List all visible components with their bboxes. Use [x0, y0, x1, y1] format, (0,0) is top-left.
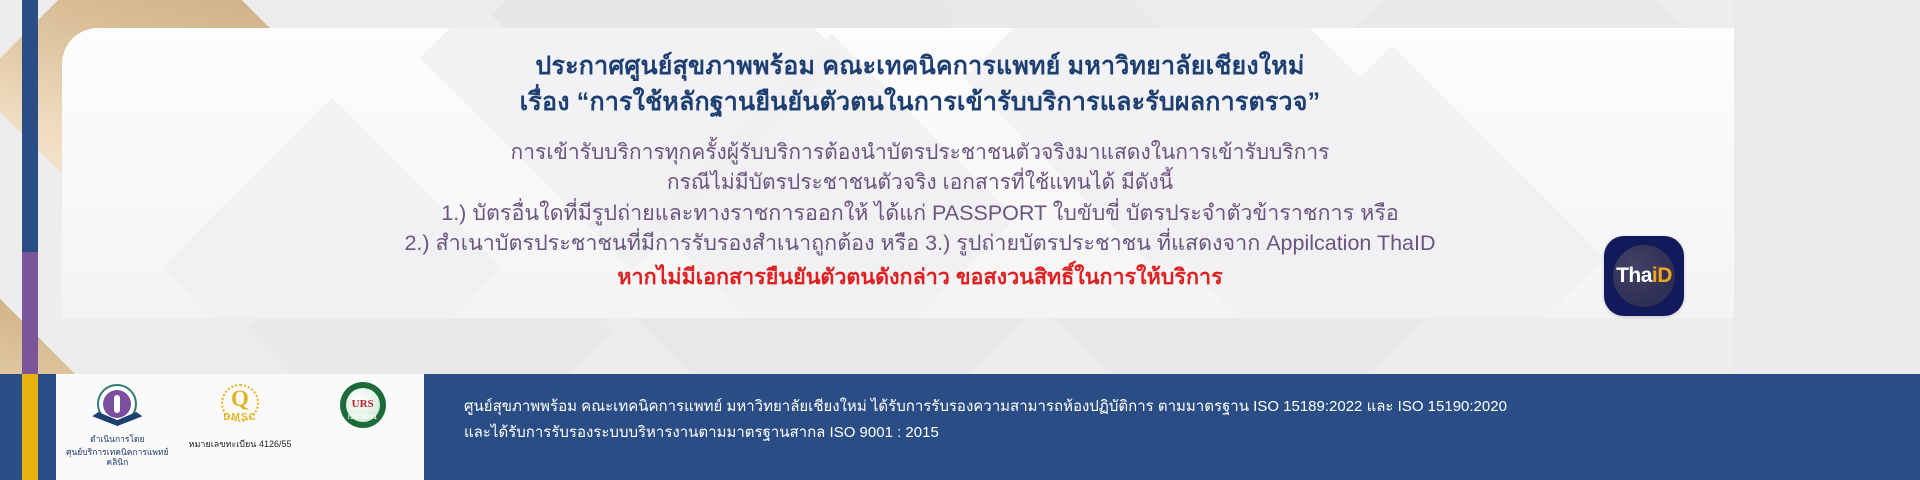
thaid-text-orange: iD [1652, 264, 1672, 287]
accent-bar-purple [22, 252, 38, 374]
body-line-3: 1.) บัตรอื่นใดที่มีรูปถ่ายและทางราชการออ… [180, 198, 1660, 229]
logo-item-urs: URS ISO 9001 [301, 378, 424, 480]
footer-accreditation-bar: ศูนย์สุขภาพพร้อม คณะเทคนิคการแพทย์ มหาวิ… [424, 374, 1920, 480]
accent-bar-navy [22, 0, 38, 252]
thaid-text-white: Tha [1616, 264, 1652, 287]
body-line-4: 2.) สำเนาบัตรประชาชนที่มีการรับรองสำเนาถ… [180, 228, 1660, 259]
footer-bar-navy-left [0, 374, 22, 480]
cmu-caption-line-2: ศุนย์บริการเทคนิคการแพทย์คลินิก [56, 447, 179, 468]
page-title: ประกาศศูนย์สุขภาพพร้อม คณะเทคนิคการแพทย์… [380, 50, 1460, 118]
body-line-2: กรณีไม่มีบัตรประชาชนตัวจริง เอกสารที่ใช้… [180, 168, 1660, 198]
urs-iso9001-seal-icon: URS ISO 9001 [336, 382, 390, 432]
footer-line-2: และได้รับการรับรองระบบบริหารงานตามมาตรฐา… [464, 420, 1507, 446]
right-edge-panel [1734, 0, 1920, 374]
footer-text: ศูนย์สุขภาพพร้อม คณะเทคนิคการแพทย์ มหาวิ… [464, 394, 1507, 446]
thaid-app-icon: ThaiD [1604, 236, 1684, 316]
dmsc-quality-seal-icon: Q DMSC [214, 382, 266, 432]
accreditation-logo-row: ดำเนินการโดย ศุนย์บริการเทคนิคการแพทย์คล… [56, 378, 424, 480]
logo-item-dmsc: Q DMSC หมายเลขทะเบียน 4126/55 [179, 378, 302, 480]
urs-mark: URS [340, 398, 386, 410]
body-line-1: การเข้ารับบริการทุกครั้งผู้รับบริการต้อง… [180, 138, 1660, 168]
announcement-body: การเข้ารับบริการทุกครั้งผู้รับบริการต้อง… [180, 138, 1660, 292]
announcement-banner: ประกาศศูนย์สุขภาพพร้อม คณะเทคนิคการแพทย์… [0, 0, 1920, 480]
title-line-1: ประกาศศูนย์สุขภาพพร้อม คณะเทคนิคการแพทย์… [380, 50, 1460, 83]
dmsc-sub-mark: DMSC [214, 412, 266, 423]
urs-iso-mark: ISO 9001 [340, 415, 386, 421]
title-line-2: เรื่อง “การใช้หลักฐานยืนยันตัวตนในการเข้… [380, 86, 1460, 119]
accent-bar-gold [22, 374, 38, 480]
dmsc-q-mark: Q [214, 386, 266, 412]
footer-bar-navy-right [38, 374, 56, 480]
logo-item-cmu: ดำเนินการโดย ศุนย์บริการเทคนิคการแพทย์คล… [56, 378, 179, 480]
cmu-clinic-seal-icon [91, 382, 143, 432]
warning-text: หากไม่มีเอกสารยืนยันตัวตนดังกล่าว ขอสงวน… [180, 262, 1660, 293]
cmu-caption-line-1: ดำเนินการโดย [90, 434, 144, 445]
thaid-wordmark: ThaiD [1616, 264, 1672, 288]
dmsc-registration-number: หมายเลขทะเบียน 4126/55 [189, 439, 292, 450]
footer-line-1: ศูนย์สุขภาพพร้อม คณะเทคนิคการแพทย์ มหาวิ… [464, 394, 1507, 420]
